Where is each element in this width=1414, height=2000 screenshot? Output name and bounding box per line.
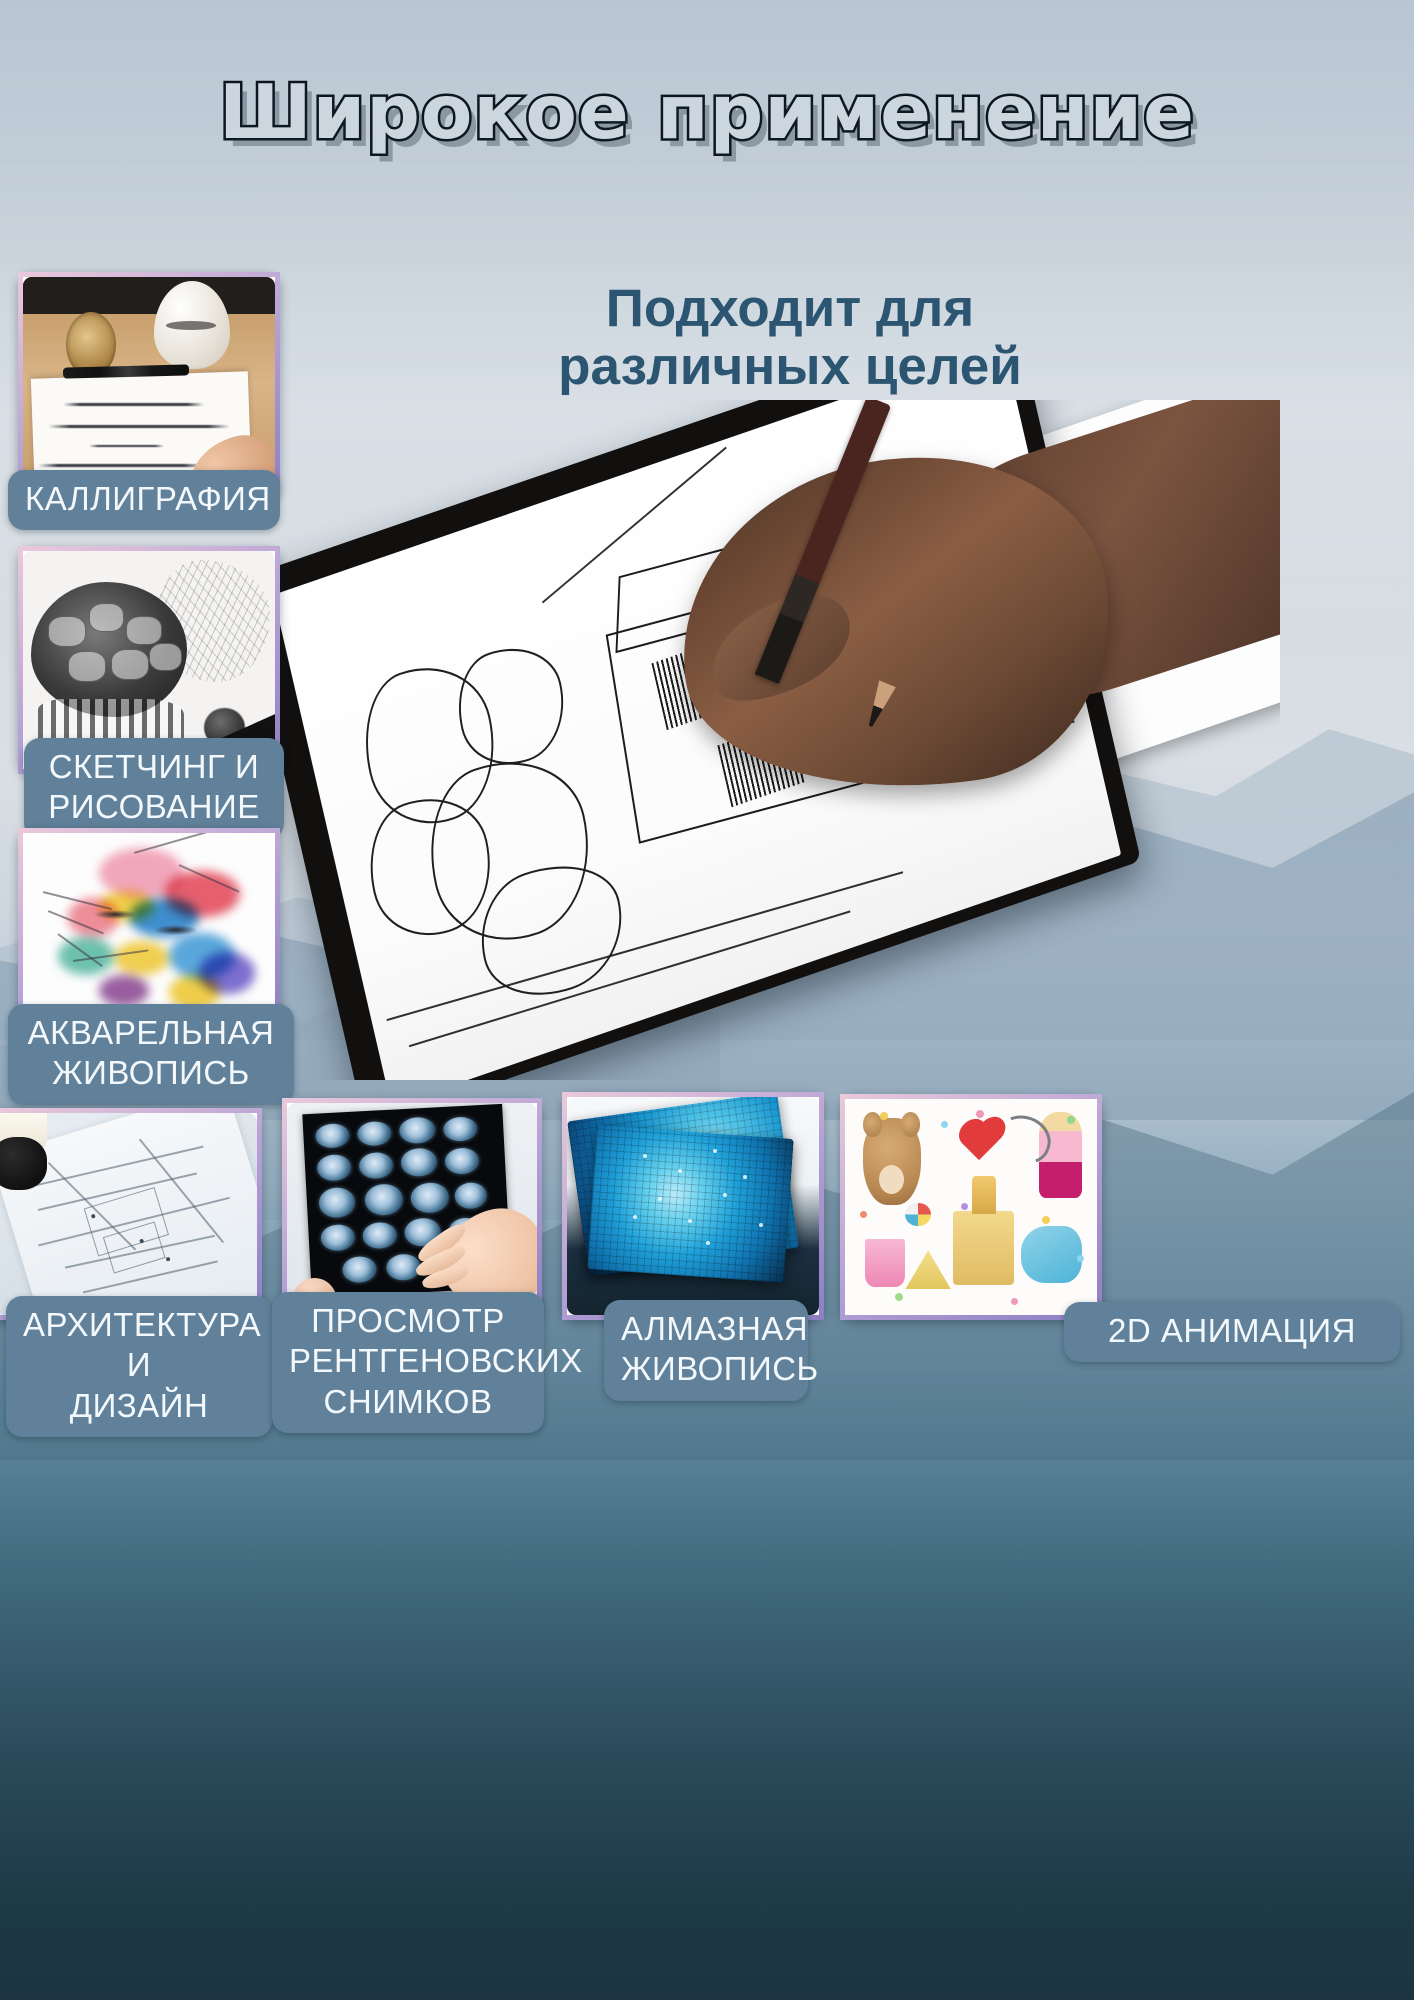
use-case-image-animation — [840, 1094, 1102, 1320]
use-case-image-calligraphy — [18, 272, 280, 500]
hero-lightpad-image — [250, 400, 1280, 1080]
page-title: Широкое применение — [0, 68, 1414, 156]
use-case-image-diamond — [562, 1092, 824, 1320]
page-subtitle: Подходит для различных целей — [480, 280, 1100, 397]
use-case-image-xray — [282, 1098, 542, 1322]
use-case-label-calligraphy: КАЛЛИГРАФИЯ — [8, 470, 280, 530]
use-case-label-animation: 2D АНИМАЦИЯ — [1064, 1302, 1400, 1362]
use-case-image-architecture — [0, 1108, 262, 1320]
use-case-label-diamond: АЛМАЗНАЯ ЖИВОПИСЬ — [604, 1300, 808, 1401]
use-case-label-sketching: СКЕТЧИНГ И РИСОВАНИЕ — [24, 738, 284, 839]
use-case-image-watercolor — [18, 828, 280, 1030]
use-case-label-xray: ПРОСМОТР РЕНТГЕНОВСКИХ СНИМКОВ — [272, 1292, 544, 1433]
subtitle-line-2: различных целей — [480, 338, 1100, 396]
use-case-label-architecture: АРХИТЕКТУРА И ДИЗАЙН — [6, 1296, 272, 1437]
poster-root: Широкое применение Подходит для различны… — [0, 0, 1414, 2000]
subtitle-line-1: Подходит для — [480, 280, 1100, 338]
use-case-label-watercolor: АКВАРЕЛЬНАЯ ЖИВОПИСЬ — [8, 1004, 294, 1105]
